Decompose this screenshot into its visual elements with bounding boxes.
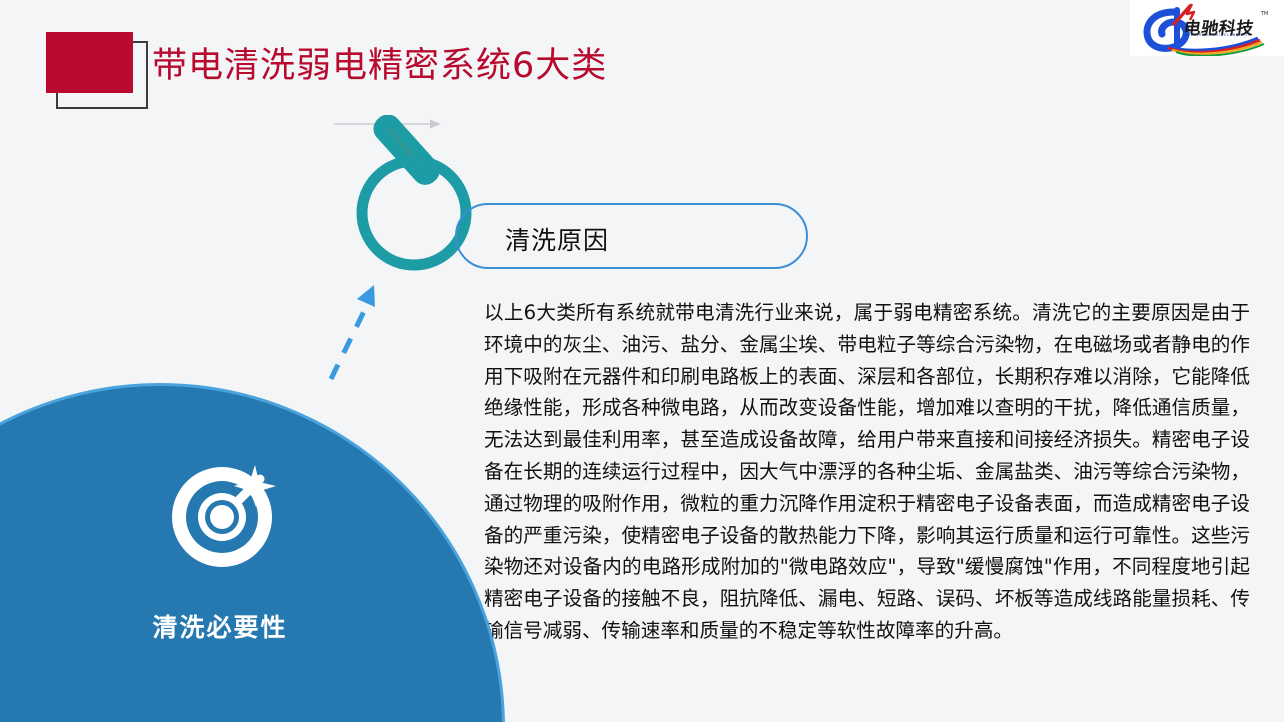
dashed-arrow-icon [325,275,395,385]
logo-name-en: ELECTRICAL CHI TECHNOLOGY [1186,33,1250,37]
logo-trademark: TM [1261,11,1268,17]
target-dart-icon [160,455,284,579]
page-title: 带电清洗弱电精密系统6大类 [152,37,607,88]
callout-pill-label: 清洗原因 [505,221,609,257]
body-paragraph: 以上6大类所有系统就带电清洗行业来说，属于弱电精密系统。清洗它的主要原因是由于环… [484,297,1250,647]
company-logo: 电驰科技 ELECTRICAL CHI TECHNOLOGY TM [1130,0,1284,56]
highlight-label: 清洗必要性 [0,608,440,644]
title-decor-square [46,32,133,93]
slide-canvas: 电驰科技 ELECTRICAL CHI TECHNOLOGY TM 带电清洗弱电… [0,0,1284,722]
